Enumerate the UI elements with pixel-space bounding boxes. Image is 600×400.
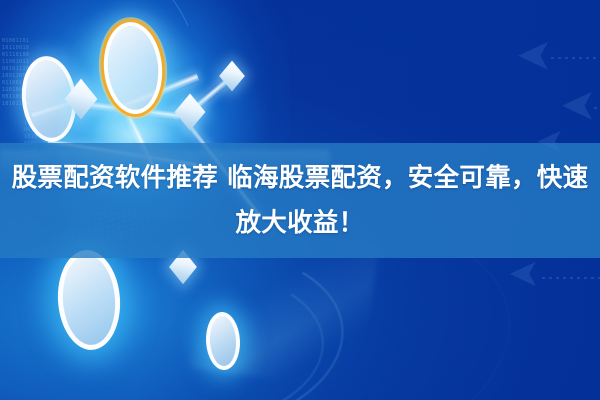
headline-line-1: 股票配资软件推荐 临海股票配资，安全可靠，快速	[0, 156, 600, 201]
dotted-line	[549, 57, 600, 59]
headline-band: 股票配资软件推荐 临海股票配资，安全可靠，快速 放大收益！	[0, 143, 600, 258]
cursor-arrow-icon: ➤	[508, 256, 540, 294]
headline-line-2: 放大收益！	[235, 201, 364, 246]
promo-banner: 01001101 10110010 01110100 11001011 0010…	[0, 0, 600, 400]
cursor-arrow-icon: ➤	[560, 84, 597, 128]
dotted-line	[540, 277, 600, 279]
cursor-arrow-icon: ➤	[516, 34, 553, 78]
dotted-line	[592, 107, 600, 109]
